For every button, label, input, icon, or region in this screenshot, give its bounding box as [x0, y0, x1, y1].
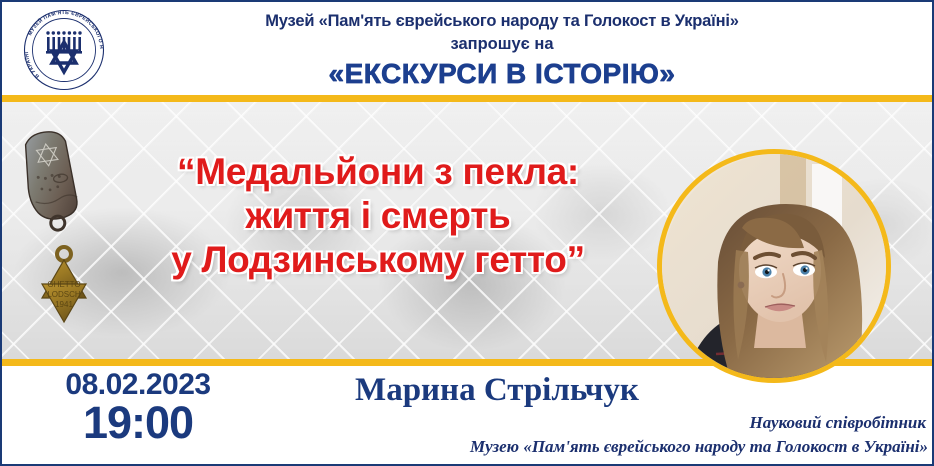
gold-divider-top — [2, 95, 934, 102]
museum-name-line: Музей «Пам'ять єврейського народу та Гол… — [152, 10, 852, 32]
invitation-line: запрошує на — [152, 33, 852, 55]
speaker-name: Марина Стрільчук — [302, 370, 692, 410]
speaker-role: Науковий співробітник — [749, 412, 926, 434]
svg-text:В УКРАЇНІ: В УКРАЇНІ — [24, 51, 41, 79]
lecture-title: “Медальйони з пекла: життя і смерть у Ло… — [98, 150, 658, 282]
series-title: «ЕКСКУРСИ В ІСТОРІЮ» — [152, 57, 852, 91]
event-datetime: 08.02.2023 19:00 — [18, 368, 258, 446]
speaker-portrait — [657, 149, 891, 383]
svg-text:LODSCH: LODSCH — [47, 290, 81, 299]
museum-logo: МУЗЕЙ ПАМ'ЯТЬ ЄВРЕЙСЬКОГО НАРОДУ ТА ГОЛО… — [20, 6, 108, 94]
event-time: 19:00 — [18, 399, 258, 446]
title-line-3: у Лодзинському гетто” — [98, 238, 658, 282]
star-pendant-artifact: GHETTO LODSCH 1941 — [42, 247, 86, 322]
title-line-2: життя і смерть — [98, 194, 658, 238]
svg-text:GHETTO: GHETTO — [47, 280, 80, 289]
title-line-1: “Медальйони з пекла: — [98, 150, 658, 194]
header-text-block: Музей «Пам'ять єврейського народу та Гол… — [152, 10, 852, 91]
medallion-artifact — [21, 129, 82, 234]
poster-header: МУЗЕЙ ПАМ'ЯТЬ ЄВРЕЙСЬКОГО НАРОДУ ТА ГОЛО… — [2, 2, 934, 95]
svg-text:1941: 1941 — [55, 300, 73, 309]
event-announcement-poster: МУЗЕЙ ПАМ'ЯТЬ ЄВРЕЙСЬКОГО НАРОДУ ТА ГОЛО… — [0, 0, 934, 466]
speaker-affiliation: Музею «Пам'ять єврейського народу та Гол… — [470, 436, 928, 458]
